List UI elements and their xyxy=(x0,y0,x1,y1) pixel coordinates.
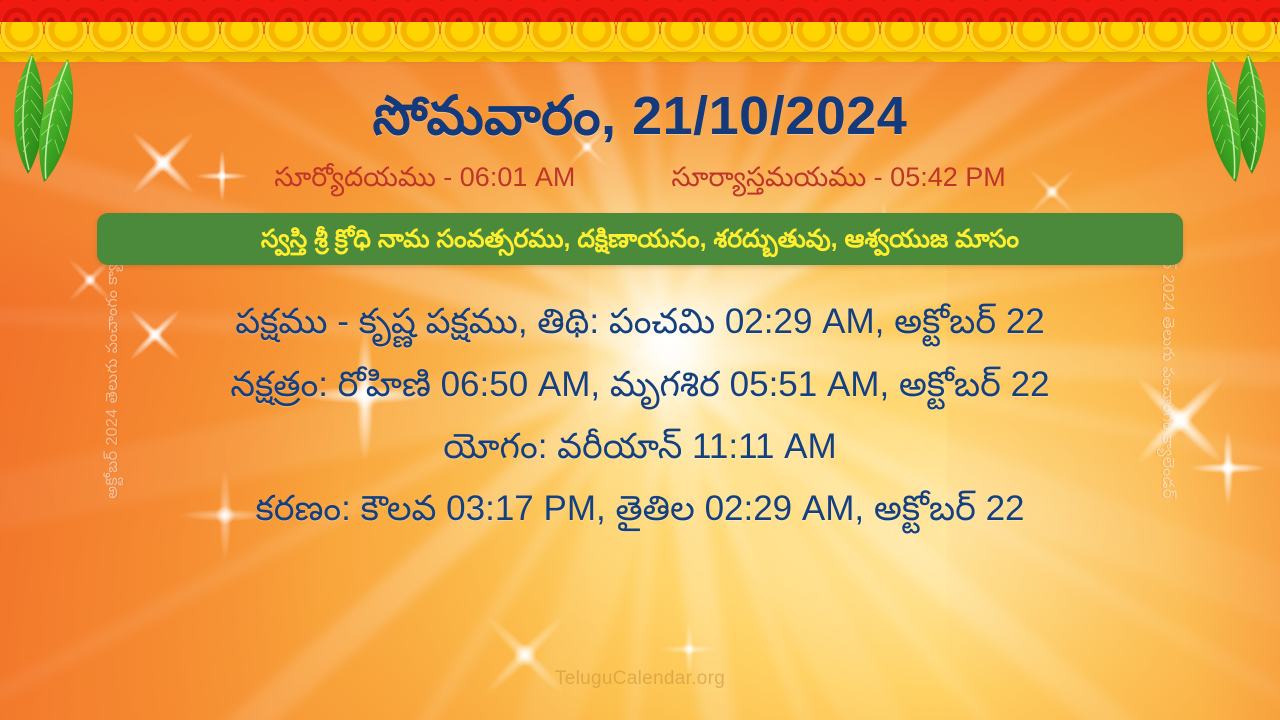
page-title: సోమవారం, 21/10/2024 xyxy=(0,85,1280,147)
panchangam-banner: స్వస్తి శ్రీ క్రోధి నామ సంవత్సరము, దక్షి… xyxy=(97,213,1183,265)
calendar-card: TeluguCalendar.org అక్టోబర్ 2024 తెలుగు … xyxy=(0,0,1280,720)
panchangam-banner-text: స్వస్తి శ్రీ క్రోధి నామ సంవత్సరము, దక్షి… xyxy=(261,227,1019,252)
detail-line-nakshatram: నక్షత్రం: రోహిణి 06:50 AM, మృగశిర 05:51 … xyxy=(0,354,1280,416)
sun-times: సూర్యోదయము - 06:01 AM సూర్యాస్తమయము - 05… xyxy=(0,161,1280,193)
sunset-text: సూర్యాస్తమయము - 05:42 PM xyxy=(671,161,1005,193)
panchangam-details: పక్షము - కృష్ణ పక్షము, తిథి: పంచమి 02:29… xyxy=(0,291,1280,540)
calendar-content: సోమవారం, 21/10/2024 సూర్యోదయము - 06:01 A… xyxy=(0,0,1280,541)
footer-watermark: TeluguCalendar.org xyxy=(0,668,1280,690)
detail-line-karanam: కరణం: కౌలవ 03:17 PM, తైతిల 02:29 AM, అక్… xyxy=(0,478,1280,540)
detail-line-yogam: యోగం: వరీయాన్ 11:11 AM xyxy=(0,416,1280,478)
sunrise-text: సూర్యోదయము - 06:01 AM xyxy=(274,161,575,193)
detail-line-tithi: పక్షము - కృష్ణ పక్షము, తిథి: పంచమి 02:29… xyxy=(0,291,1280,353)
